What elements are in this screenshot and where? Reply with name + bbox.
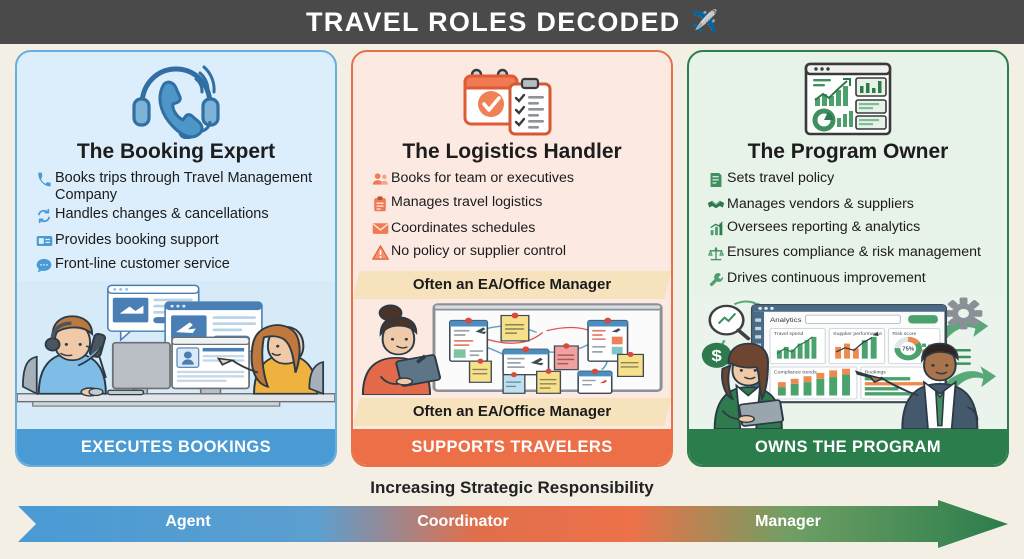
card-program-owner[interactable]: The Program Owner Sets travel policy Man…	[687, 50, 1009, 467]
bullet-text: Provides booking support	[55, 232, 219, 249]
svg-text:Analytics: Analytics	[770, 315, 802, 323]
card-title: The Booking Expert	[17, 140, 335, 164]
warning-icon	[369, 243, 391, 265]
bar-chart-icon	[705, 219, 727, 241]
arrow-stage-coordinator: Coordinator	[348, 513, 578, 531]
card-strip-label: OWNS THE PROGRAM	[689, 429, 1007, 465]
bullet-text: Manages vendors & suppliers	[727, 196, 914, 212]
analytics-dashboard-icon	[689, 52, 1007, 138]
bullet-item: Drives continuous improvement	[705, 270, 993, 292]
policy-document-icon	[705, 170, 727, 193]
banner-ea-office-manager-bottom: Often an EA/Office Manager	[353, 398, 671, 426]
arrow-stage-labels: Agent Coordinator Manager	[18, 500, 1008, 548]
calendar-checklist-icon	[353, 52, 671, 138]
bullet-item: Books trips through Travel Management Co…	[33, 170, 321, 203]
bullet-item: Oversees reporting & analytics	[705, 219, 993, 241]
arrow-stage-agent: Agent	[78, 513, 298, 531]
wrench-icon	[705, 270, 727, 292]
envelope-icon	[369, 220, 391, 240]
bullet-item: Handles changes & cancellations	[33, 206, 321, 229]
bullet-item: Provides booking support	[33, 232, 321, 253]
card-title: The Program Owner	[689, 140, 1007, 164]
bullet-item: Ensures compliance & risk management	[705, 244, 993, 267]
page-title: TRAVEL ROLES DECODED	[306, 7, 681, 38]
ticket-icon	[33, 232, 55, 253]
svg-text:Travel spend: Travel spend	[774, 332, 804, 337]
clipboard-icon	[369, 194, 391, 217]
bullet-item: Coordinates schedules	[369, 220, 657, 240]
illustration-logistics-board	[353, 302, 671, 395]
bullet-text: Handles changes & cancellations	[55, 206, 269, 223]
svg-text:Compliance trends: Compliance trends	[774, 370, 817, 375]
phone-icon	[33, 170, 55, 192]
scales-icon	[705, 244, 727, 267]
svg-text:75%: 75%	[902, 347, 914, 352]
cards-row: The Booking Expert Books trips through T…	[0, 50, 1024, 470]
bullet-item: Manages travel logistics	[369, 194, 657, 217]
bullet-text: Oversees reporting & analytics	[727, 219, 920, 235]
bullet-list: Sets travel policy Manages vendors & sup…	[689, 170, 1007, 295]
bullet-item: Manages vendors & suppliers	[705, 196, 993, 216]
card-logistics-handler[interactable]: The Logistics Handler Books for team or …	[351, 50, 673, 467]
bullet-text: Sets travel policy	[727, 170, 834, 186]
card-booking-expert[interactable]: The Booking Expert Books trips through T…	[15, 50, 337, 467]
footer-caption: Increasing Strategic Responsibility	[0, 478, 1024, 498]
illustration-program-dashboard: $ Analytics Travel spend	[689, 295, 1007, 429]
card-strip-label: SUPPORTS TRAVELERS	[353, 429, 671, 465]
people-icon	[369, 170, 391, 191]
bullet-text: Ensures compliance & risk management	[727, 244, 981, 260]
headset-phone-icon	[17, 52, 335, 138]
bullet-item: Front-line customer service	[33, 256, 321, 278]
bullet-item: Books for team or executives	[369, 170, 657, 191]
svg-text:Risk score: Risk score	[892, 332, 916, 337]
card-title: The Logistics Handler	[353, 140, 671, 164]
progression-arrow: Agent Coordinator Manager	[18, 500, 1008, 548]
bullet-item: No policy or supplier control	[369, 243, 657, 265]
bullet-text: Manages travel logistics	[391, 194, 542, 210]
handshake-icon	[705, 196, 727, 216]
bullet-text: No policy or supplier control	[391, 243, 566, 259]
banner-ea-office-manager-top: Often an EA/Office Manager	[353, 271, 671, 299]
bullet-item: Sets travel policy	[705, 170, 993, 193]
bullet-text: Books trips through Travel Management Co…	[55, 170, 321, 203]
bullet-text: Books for team or executives	[391, 170, 574, 186]
bullet-list: Books trips through Travel Management Co…	[17, 170, 335, 281]
airplane-icon: ✈️	[691, 9, 718, 35]
chat-bubble-icon	[33, 256, 55, 278]
card-strip-label: EXECUTES BOOKINGS	[17, 429, 335, 465]
infographic-page: TRAVEL ROLES DECODED ✈️ The Booking Expe…	[0, 0, 1024, 559]
svg-text:$: $	[711, 347, 722, 365]
bullet-text: Front-line customer service	[55, 256, 230, 273]
bullet-text: Drives continuous improvement	[727, 270, 926, 286]
header-bar: TRAVEL ROLES DECODED ✈️	[0, 0, 1024, 44]
arrow-stage-manager: Manager	[678, 513, 898, 531]
bullet-text: Coordinates schedules	[391, 220, 535, 236]
refresh-icon	[33, 206, 55, 229]
bullet-list: Books for team or executives Manages tra…	[353, 170, 671, 268]
illustration-call-center	[17, 281, 335, 429]
